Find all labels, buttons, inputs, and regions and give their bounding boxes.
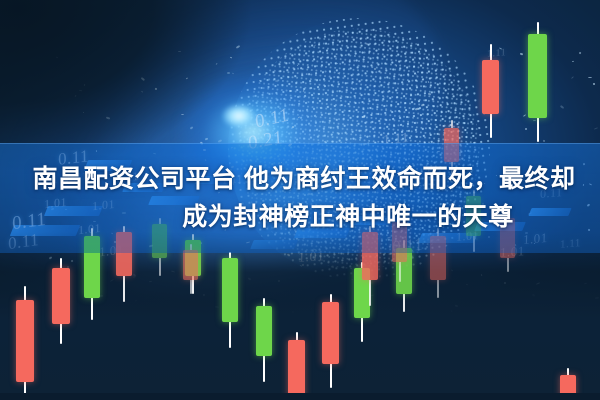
- particle: [357, 319, 359, 321]
- particle: [375, 356, 377, 358]
- candlestick-body: [322, 302, 339, 364]
- particle: [311, 308, 313, 310]
- particle: [323, 328, 324, 330]
- particle: [498, 47, 501, 49]
- particle: [471, 342, 473, 344]
- particle: [572, 61, 574, 62]
- particle: [297, 321, 299, 323]
- particle: [370, 295, 374, 297]
- particle: [532, 293, 536, 297]
- candlestick-body: [528, 34, 547, 118]
- candlestick-wick: [330, 294, 332, 388]
- particle: [228, 307, 231, 309]
- candlestick-wick: [296, 332, 298, 400]
- bottom-strip: [0, 393, 600, 400]
- particle: [536, 56, 541, 60]
- particle: [579, 51, 582, 54]
- particle: [466, 284, 468, 285]
- particle: [135, 299, 138, 301]
- particle: [214, 355, 217, 357]
- candlestick-wick: [24, 286, 26, 398]
- particle: [592, 83, 594, 85]
- particle: [560, 105, 565, 109]
- headline-line-1: 南昌配资公司平台 他为商纣王效命而死，最终却: [0, 160, 600, 198]
- headline: 南昌配资公司平台 他为商纣王效命而死，最终却 成为封神榜正神中唯一的天尊: [0, 160, 600, 236]
- particle: [163, 349, 166, 351]
- particle: [291, 311, 294, 314]
- particle: [399, 346, 403, 350]
- particle: [509, 339, 510, 341]
- stock-banner: 0.110.211.110.111.010.110.211.110.111.01…: [0, 0, 600, 400]
- particle: [444, 352, 446, 354]
- particle: [595, 297, 599, 300]
- particle: [523, 115, 526, 117]
- particle: [585, 323, 588, 326]
- headline-line-2: 成为封神榜正神中唯一的天尊: [0, 198, 600, 236]
- particle: [415, 350, 420, 353]
- particle: [525, 128, 527, 130]
- particle: [215, 306, 220, 309]
- particle: [571, 76, 574, 79]
- particle: [530, 323, 533, 325]
- globe-glow-core: [222, 104, 256, 128]
- particle: [504, 282, 506, 284]
- particle: [175, 321, 179, 323]
- headline-band-edge: [0, 143, 600, 144]
- particle: [541, 77, 544, 79]
- particle: [264, 325, 269, 329]
- particle: [536, 282, 540, 284]
- particle: [593, 127, 597, 130]
- particle: [450, 310, 452, 313]
- candlestick-wick: [537, 22, 539, 142]
- candlestick-body: [288, 340, 305, 400]
- particle: [567, 322, 571, 326]
- particle: [370, 282, 373, 284]
- particle: [520, 53, 523, 56]
- particle: [588, 77, 592, 78]
- particle: [533, 120, 536, 121]
- particle: [404, 314, 407, 316]
- candlestick-body: [256, 306, 272, 356]
- particle: [541, 341, 543, 343]
- particle: [495, 99, 499, 103]
- particle: [493, 66, 496, 69]
- particle: [584, 283, 587, 285]
- particle: [91, 321, 94, 322]
- particle: [338, 324, 340, 327]
- particle: [496, 333, 500, 336]
- candlestick-body: [16, 300, 34, 382]
- candlestick-wick: [263, 298, 265, 382]
- particle: [278, 320, 280, 323]
- particle: [371, 309, 375, 313]
- particle: [455, 305, 459, 308]
- particle: [561, 329, 564, 332]
- particle: [274, 333, 279, 337]
- particle: [73, 325, 75, 328]
